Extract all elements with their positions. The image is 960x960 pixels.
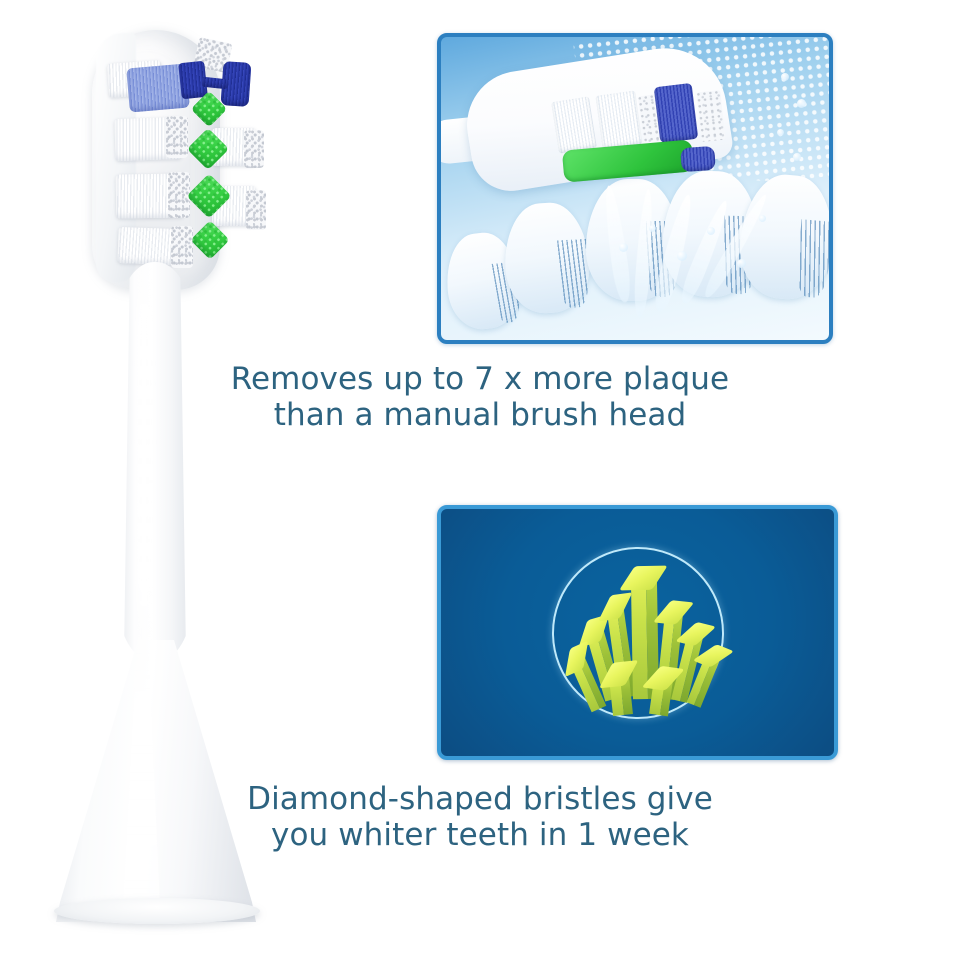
water-droplet	[759, 215, 766, 222]
diamond-caption-line-1: Diamond-shaped bristles give	[247, 781, 713, 817]
plaque-removal-panel	[437, 33, 833, 344]
panel-speckled-tuft	[696, 90, 725, 142]
panel-blue-tuft	[680, 146, 716, 172]
water-droplet	[737, 259, 746, 268]
speckled-polishing-tuft	[171, 226, 193, 268]
panel-blue-tuft	[654, 83, 699, 143]
panel-white-tuft	[551, 96, 597, 153]
speckled-polishing-tuft	[244, 130, 264, 168]
speckled-polishing-tuft	[168, 172, 190, 218]
diamond-caption-line-2: you whiter teeth in 1 week	[0, 818, 960, 854]
water-droplet	[797, 99, 806, 108]
white-bristle-block	[117, 227, 178, 265]
water-droplet	[619, 243, 628, 252]
green-diamond-tuft	[190, 220, 230, 260]
bristle-field	[0, 0, 400, 320]
water-droplet	[677, 251, 687, 261]
diamond-caption: Diamond-shaped bristles give you whiter …	[0, 782, 960, 854]
speckled-polishing-tuft	[166, 116, 188, 158]
product-feature-page: Removes up to 7 x more plaque than a man…	[0, 0, 960, 960]
speckled-polishing-tuft	[246, 190, 266, 230]
water-droplet	[793, 153, 801, 161]
plaque-caption: Removes up to 7 x more plaque than a man…	[0, 362, 960, 434]
water-droplet	[781, 73, 789, 81]
brush-head-neck-highlight	[136, 268, 152, 648]
tooth	[736, 171, 833, 303]
diamond-bristles-panel	[437, 505, 838, 760]
panel-white-tuft	[595, 90, 642, 149]
brush-head-neck	[118, 262, 192, 662]
diamond-bristle-prism	[609, 672, 633, 716]
brush-head-base-foot	[54, 898, 260, 924]
plaque-caption-line-2: than a manual brush head	[0, 398, 960, 434]
water-droplet	[777, 129, 784, 136]
water-droplet	[649, 225, 656, 232]
water-droplet	[707, 227, 715, 235]
plaque-caption-line-1: Removes up to 7 x more plaque	[231, 361, 729, 397]
tooth	[502, 201, 592, 315]
